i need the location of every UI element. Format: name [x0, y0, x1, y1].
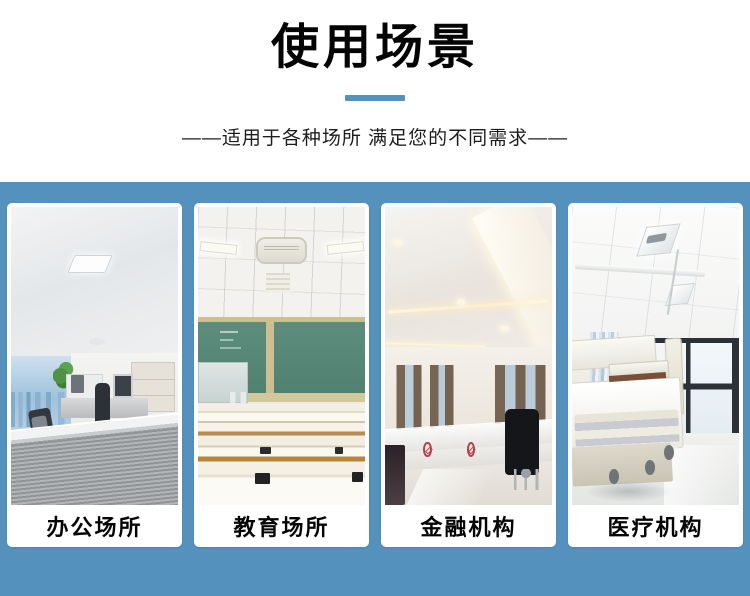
scene-card-education[interactable]: 教育场所: [194, 203, 369, 547]
hospital-bed-caster: [664, 445, 674, 460]
bank-cabinet: [385, 445, 405, 505]
scene-card-list: 办公场所: [7, 203, 743, 547]
classroom-desk-item: [255, 473, 270, 483]
page-root: 使用场景 ——适用于各种场所 满足您的不同需求——: [0, 0, 750, 596]
bank-downlight-icon: [393, 240, 401, 245]
scene-label-office: 办公场所: [11, 505, 178, 547]
bank-coin-logo-icon: [423, 442, 431, 457]
classroom-desk-rows: [198, 404, 365, 505]
scenes-band: 办公场所: [0, 182, 750, 596]
education-photo: [198, 207, 365, 505]
page-subtitle: ——适用于各种场所 满足您的不同需求——: [0, 123, 750, 150]
page-title: 使用场景: [0, 22, 750, 75]
scene-label-finance: 金融机构: [385, 505, 552, 547]
classroom-desk-item: [335, 447, 343, 454]
scene-card-office[interactable]: 办公场所: [7, 203, 182, 547]
classroom-desk-item: [352, 472, 364, 482]
hospital-bed-shadow: [585, 481, 672, 502]
page-header: 使用场景 ——适用于各种场所 满足您的不同需求——: [0, 0, 750, 150]
title-divider: [345, 95, 405, 101]
bank-downlight-icon: [457, 299, 465, 304]
classroom-projector: [266, 273, 289, 294]
classroom-ceiling-vent: [256, 237, 306, 264]
classroom-desk-item: [260, 447, 272, 455]
bank-office-chair: [505, 409, 538, 475]
scene-card-finance[interactable]: 金融机构: [381, 203, 556, 547]
title-divider-wrapper: [0, 95, 750, 101]
finance-photo: [385, 207, 552, 505]
scene-label-medical: 医疗机构: [572, 505, 739, 547]
scene-label-education: 教育场所: [198, 505, 365, 547]
office-monitor-icon: [113, 374, 133, 398]
medical-photo: [572, 207, 739, 505]
hospital-bed-frame: [572, 443, 673, 487]
classroom-chalkboard-divider: [266, 317, 274, 400]
office-photo: [11, 207, 178, 505]
hospital-floor-reflection: [664, 445, 739, 505]
bank-chair-base: [512, 469, 540, 490]
office-panel-light-icon: [68, 255, 114, 273]
scene-card-medical[interactable]: 医疗机构: [568, 203, 743, 547]
classroom-grid-ceiling: [198, 207, 365, 320]
office-monitor-secondary: [71, 375, 84, 393]
classroom-chalk-writing: [220, 329, 250, 353]
office-counter-louvers: [11, 427, 178, 505]
